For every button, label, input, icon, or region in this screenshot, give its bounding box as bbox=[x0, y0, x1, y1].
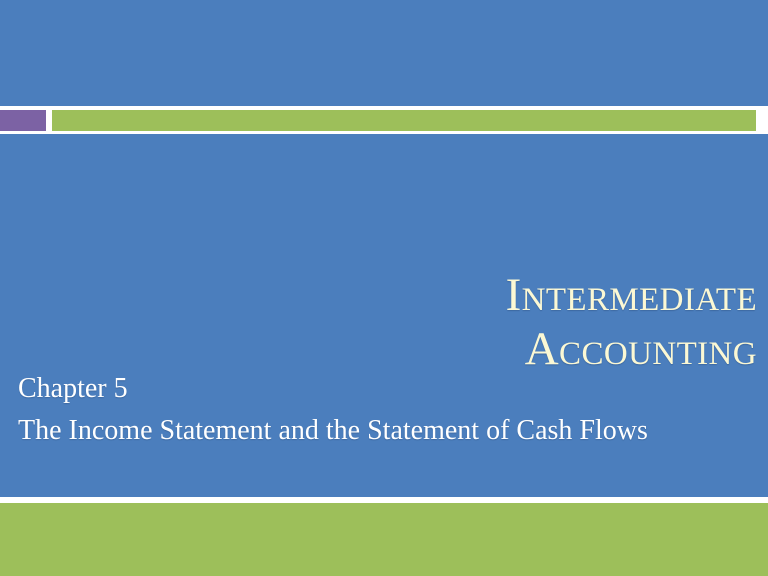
accent-bar-purple bbox=[0, 110, 46, 131]
slide-title: Intermediate Accounting bbox=[57, 268, 757, 376]
slide-subtitle: Chapter 5 The Income Statement and the S… bbox=[18, 368, 748, 452]
accent-bar-green bbox=[52, 110, 756, 131]
slide-title-line-1: Intermediate bbox=[57, 268, 757, 322]
footer-bar: © 2013 Cengage Learning. All Rights Rese… bbox=[0, 503, 768, 576]
chapter-topic: The Income Statement and the Statement o… bbox=[18, 410, 748, 452]
chapter-label: Chapter 5 bbox=[18, 368, 748, 410]
title-slide: Intermediate Accounting Chapter 5 The In… bbox=[0, 0, 768, 576]
